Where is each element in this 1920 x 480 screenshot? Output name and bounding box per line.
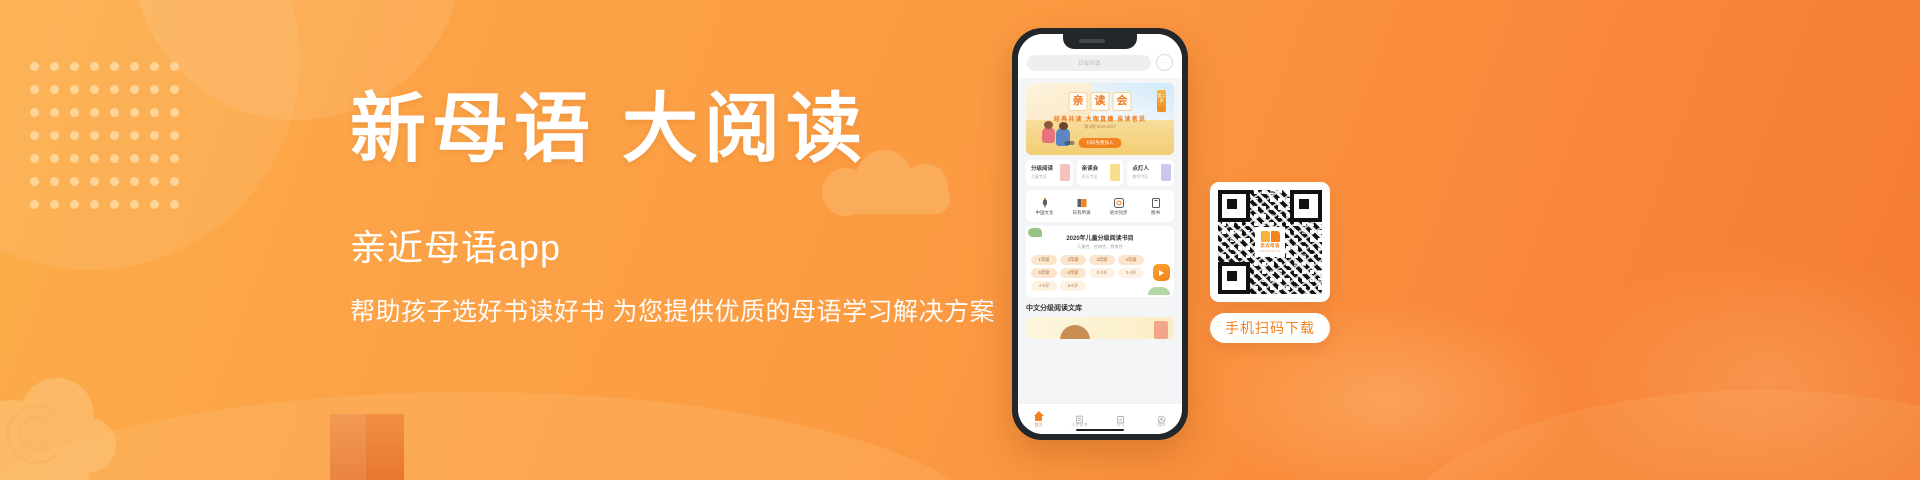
sync-icon [1113, 196, 1125, 208]
hero-subtitle: 经典共读 大咖直播 亲读者说 [1054, 114, 1146, 123]
quick-link-textbook-sync[interactable]: 语文同步 [1100, 196, 1137, 216]
tab-profile[interactable]: 我的 [1141, 411, 1182, 428]
copy-block: 新母语大阅读 亲近母语app 帮助孩子选好书读好书 为您提供优质的母语学习解决方… [350, 92, 1050, 325]
user-icon [1157, 411, 1166, 420]
grade-tag[interactable]: 6年级 [1060, 268, 1086, 278]
lantern-icon [1039, 196, 1051, 208]
qr-code-image[interactable]: 亲近母语 QIN JIN MU YU [1218, 190, 1322, 294]
category-card-graded-reading[interactable]: 分级阅读 儿童专区 [1026, 160, 1073, 186]
phone-screen: 日有所诵 ··· 亲 读 会 第二季 经典共读 大咖直播 亲读者 [1018, 34, 1182, 434]
dot-grid-decoration [30, 62, 190, 223]
category-card-teacher[interactable]: 点灯人 教师专区 [1127, 160, 1174, 186]
age-tag[interactable]: 0-3岁 [1089, 268, 1115, 278]
age-tag[interactable]: 3-4岁 [1118, 268, 1144, 278]
qr-logo-name: 亲近母语 [1260, 243, 1279, 249]
book-logo-icon [1261, 231, 1280, 242]
swirl-inner-decoration [18, 416, 52, 450]
home-indicator [1076, 429, 1124, 432]
grade-tag[interactable]: 2年级 [1060, 255, 1086, 265]
tagline: 帮助孩子选好书读好书 为您提供优质的母语学习解决方案 [350, 300, 1050, 325]
search-input[interactable]: 日有所诵 [1027, 55, 1151, 71]
play-video-button[interactable] [1153, 264, 1170, 281]
app-booklist-section: 2020年儿童分级阅读书目 儿童性、经典性、教育性 1年级 2年级 3年级 4年… [1026, 226, 1174, 297]
home-icon [1034, 411, 1043, 420]
grade-tag[interactable]: 5年级 [1031, 268, 1057, 278]
leaf-decoration [1148, 287, 1170, 295]
download-button[interactable]: 手机扫码下载 [1210, 313, 1330, 343]
headline-part-1: 新母语 [350, 88, 596, 172]
tab-study[interactable]: 学习 [1100, 411, 1141, 428]
bookmark-icon [1161, 164, 1171, 181]
book-icon [1150, 196, 1162, 208]
page-title: 新母语大阅读 [350, 92, 1050, 168]
qr-center-logo: 亲近母语 QIN JIN MU YU [1255, 227, 1285, 257]
book-open-icon [1076, 196, 1088, 208]
quick-link-daily-recitation[interactable]: 日有所诵 [1063, 196, 1100, 216]
bookmark-icon [1110, 164, 1120, 181]
more-icon[interactable]: ··· [1156, 54, 1173, 71]
app-search-row: 日有所诵 ··· [1027, 54, 1173, 71]
leaf-icon [1028, 228, 1042, 237]
tab-home[interactable]: 首页 [1018, 411, 1059, 428]
library-title: 中文分级阅读文库 [1026, 303, 1174, 313]
age-tag[interactable]: 4-5岁 [1031, 281, 1057, 291]
category-card-parent-club[interactable]: 亲读会 家长专区 [1077, 160, 1124, 186]
tab-label: 学习 [1100, 422, 1141, 428]
app-quick-links: 中国文化 日有所诵 语文同步 [1026, 190, 1174, 222]
grade-tag[interactable]: 4年级 [1118, 255, 1144, 265]
grade-tag[interactable]: 3年级 [1089, 255, 1115, 265]
tab-label: 首页 [1018, 422, 1059, 428]
box-decoration [330, 414, 404, 480]
qr-card: 亲近母语 QIN JIN MU YU [1210, 182, 1330, 302]
headline-part-2: 大阅读 [622, 88, 868, 172]
glow-right [1560, 250, 1920, 480]
quick-link-label: 图书 [1137, 210, 1174, 216]
qr-finder-top-left [1218, 190, 1250, 222]
tab-reading[interactable]: 小步读书 [1059, 411, 1100, 428]
tab-label: 我的 [1141, 422, 1182, 428]
hero-title-char-1: 亲 [1069, 92, 1088, 111]
hero-date: 第3期 9/16-9/27 [1084, 124, 1116, 130]
quick-link-chinese-culture[interactable]: 中国文化 [1026, 196, 1063, 216]
age-tag[interactable]: 5-6岁 [1060, 281, 1086, 291]
quick-link-books[interactable]: 图书 [1137, 196, 1174, 216]
booklist-subtitle: 儿童性、经典性、教育性 [1031, 244, 1169, 250]
booklist-title: 2020年儿童分级阅读书目 [1031, 233, 1169, 242]
quick-link-label: 语文同步 [1100, 210, 1137, 216]
app-body: 亲 读 会 第二季 经典共读 大咖直播 亲读者说 第3期 9/16-9/27 扫… [1018, 83, 1182, 339]
bookmark-icon [1060, 164, 1070, 181]
library-card[interactable] [1026, 317, 1174, 339]
quick-link-label: 日有所诵 [1063, 210, 1100, 216]
app-hero-banner[interactable]: 亲 读 会 第二季 经典共读 大咖直播 亲读者说 第3期 9/16-9/27 扫… [1026, 83, 1174, 155]
list-icon [1075, 411, 1084, 420]
booklist-grade-tags: 1年级 2年级 3年级 4年级 5年级 6年级 0-3岁 3-4岁 4-5岁 5… [1031, 255, 1169, 291]
grade-tag[interactable]: 1年级 [1031, 255, 1057, 265]
qr-logo-en: QIN JIN MU YU [1260, 250, 1281, 253]
tab-label: 小步读书 [1059, 422, 1100, 428]
qr-section: 亲近母语 QIN JIN MU YU 手机扫码下载 [1210, 182, 1330, 343]
hero-title-char-3: 会 [1113, 92, 1132, 111]
hero-title: 亲 读 会 [1069, 92, 1132, 111]
promo-banner: 新母语大阅读 亲近母语app 帮助孩子选好书读好书 为您提供优质的母语学习解决方… [0, 0, 1920, 480]
hill-decoration-left [0, 392, 1000, 480]
hero-season-tag: 第二季 [1157, 90, 1166, 112]
hero-cta-button[interactable]: 扫码免费加入 [1079, 138, 1122, 148]
app-category-cards: 分级阅读 儿童专区 亲读会 家长专区 点灯人 教师专区 [1026, 160, 1174, 186]
play-icon [1159, 270, 1164, 276]
quick-link-label: 中国文化 [1026, 210, 1063, 216]
hero-title-char-2: 读 [1091, 92, 1110, 111]
phone-notch [1063, 34, 1137, 49]
hero-child-icon-1 [1042, 127, 1055, 143]
qr-finder-top-right [1290, 190, 1322, 222]
clipboard-icon [1116, 411, 1125, 420]
app-name: 亲近母语app [350, 230, 1050, 266]
phone-mockup: 日有所诵 ··· 亲 读 会 第二季 经典共读 大咖直播 亲读者 [1012, 28, 1188, 440]
qr-finder-bottom-left [1218, 262, 1250, 294]
